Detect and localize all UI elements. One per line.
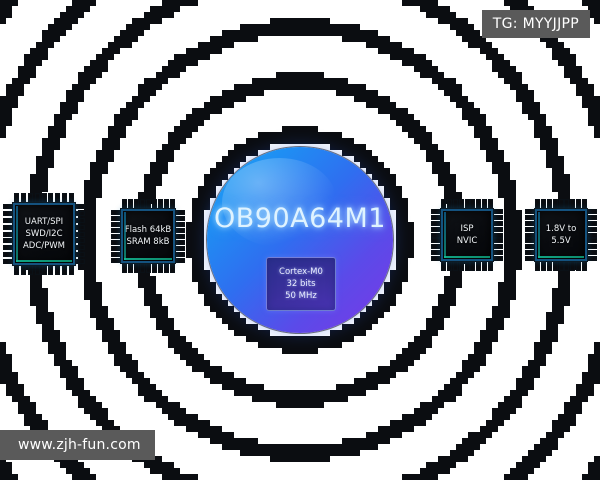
watermark-label: www.zjh-fun.com [0,430,155,460]
chip-line-2: SRAM 8kB [127,236,170,248]
chip-body: UART/SPI SWD/I2C ADC/PWM [13,203,75,265]
chip-line-3: ADC/PWM [23,240,65,252]
mcu-part-number: OB90A64M1 [207,203,393,234]
chip-line-1: Flash 64kB [125,224,172,236]
chip-body: 1.8V to 5.5V [535,209,587,261]
mcu-sphere: OB90A64M1 Cortex-M0 32 bits 50 MHz [207,147,393,333]
chip-line-2: 5.5V [551,235,570,247]
core-line-2: 32 bits [286,279,315,290]
chip-line-1: 1.8V to [546,223,577,235]
cpu-core-block: Cortex-M0 32 bits 50 MHz [266,257,336,311]
chip-memory: Flash 64kB SRAM 8kB [110,198,186,274]
chip-body: Flash 64kB SRAM 8kB [121,209,175,263]
chip-line-1: UART/SPI [25,216,63,228]
core-line-1: Cortex-M0 [279,267,323,278]
chip-line-2: NVIC [457,235,478,247]
chip-isp-nvic: ISP NVIC [430,198,504,272]
chip-line-2: SWD/I2C [25,228,62,240]
tag-badge: TG: MYYJJPP [482,10,590,38]
chip-line-1: ISP [460,223,473,235]
chip-voltage-range: 1.8V to 5.5V [524,198,598,272]
diagram-canvas: OB90A64M1 Cortex-M0 32 bits 50 MHz UART/… [0,0,600,480]
chip-interfaces: UART/SPI SWD/I2C ADC/PWM [2,192,86,276]
chip-body: ISP NVIC [441,209,493,261]
core-line-3: 50 MHz [285,291,317,302]
